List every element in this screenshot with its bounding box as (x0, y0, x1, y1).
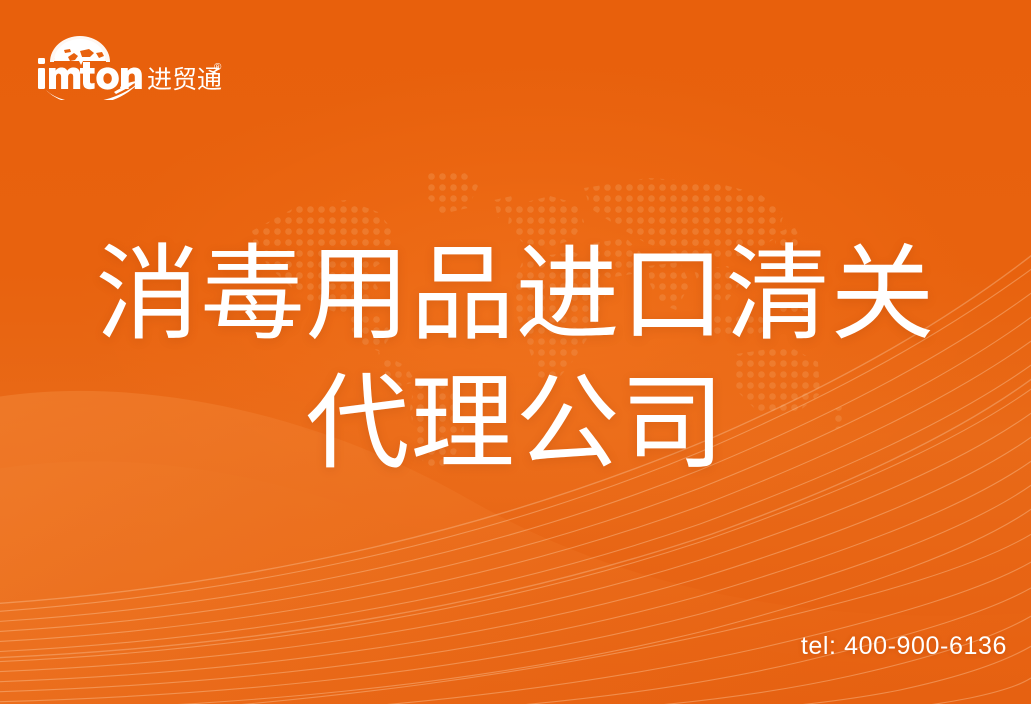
registered-trademark-icon: ® (214, 62, 222, 73)
page-title: 消毒用品进口清关 代理公司 (0, 228, 1031, 492)
globe-dome-icon (50, 36, 110, 65)
promo-banner: 进贸通 ® 消毒用品进口清关 代理公司 tel: 400-900-6136 (0, 0, 1031, 704)
contact-phone[interactable]: tel: 400-900-6136 (801, 632, 1007, 661)
headline-line-1: 消毒用品进口清关 (0, 228, 1031, 363)
logo-chinese-name: 进贸通 (147, 66, 222, 94)
brand-logo[interactable]: 进贸通 ® (34, 26, 224, 100)
headline-line-2: 代理公司 (0, 357, 1031, 492)
